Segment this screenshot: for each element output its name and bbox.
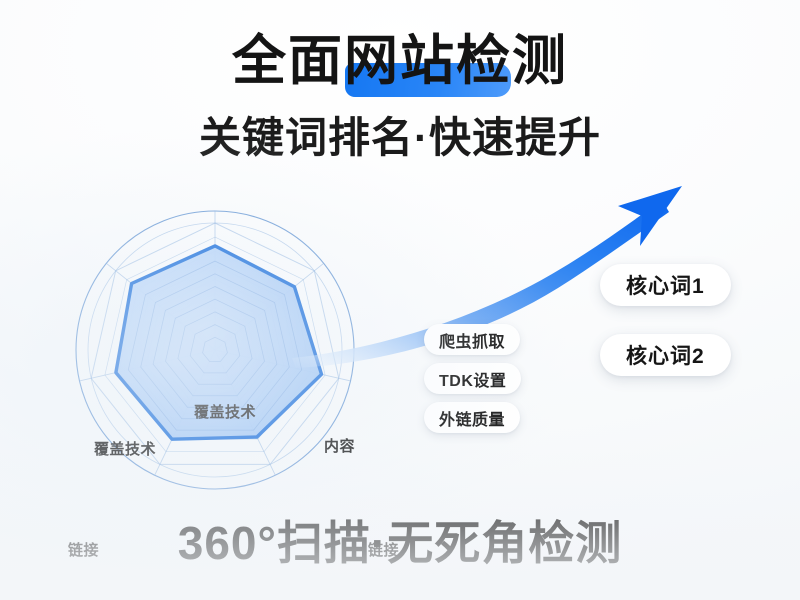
page-subtitle: 关键词排名·快速提升 (199, 114, 601, 161)
footer-tagline: 360°扫描·无死角检测 (178, 518, 622, 569)
radar-chart: 覆盖技术内容链接义息检链用能务广用户体验链接覆盖技术 (28, 198, 403, 508)
tag-chip-label: TDK设置 (439, 367, 506, 391)
tag-chip-tdk[interactable]: TDK设置 (424, 363, 521, 394)
headline-container: 全面网站检测 (0, 32, 800, 90)
radar-chart-svg (28, 198, 403, 508)
keyword-chip-label: 核心词2 (626, 340, 705, 370)
poster-canvas: 全面网站检测 关键词排名·快速提升 (0, 0, 800, 600)
arrow-head (618, 186, 682, 246)
radar-axis-label-top-left: 覆盖技术 (94, 438, 156, 459)
keyword-chip-label: 核心词1 (626, 270, 705, 300)
page-title: 全面网站检测 (232, 32, 568, 90)
keyword-chip-2[interactable]: 核心词2 (600, 334, 731, 376)
footer-container: 360°扫描·无死角检测 (0, 518, 800, 569)
radar-axis-label-top: 覆盖技术 (194, 401, 256, 422)
tag-chip-label: 爬虫抓取 (439, 328, 505, 352)
page-title-text: 全面网站检测 (232, 31, 568, 91)
keyword-chip-1[interactable]: 核心词1 (600, 264, 731, 306)
radar-axis-label-top-right: 内容 (324, 435, 355, 456)
tag-chip-backlink[interactable]: 外链质量 (424, 402, 520, 433)
subheadline-container: 关键词排名·快速提升 (0, 114, 800, 161)
tag-chip-crawl[interactable]: 爬虫抓取 (424, 324, 520, 355)
tag-chip-label: 外链质量 (439, 406, 505, 430)
